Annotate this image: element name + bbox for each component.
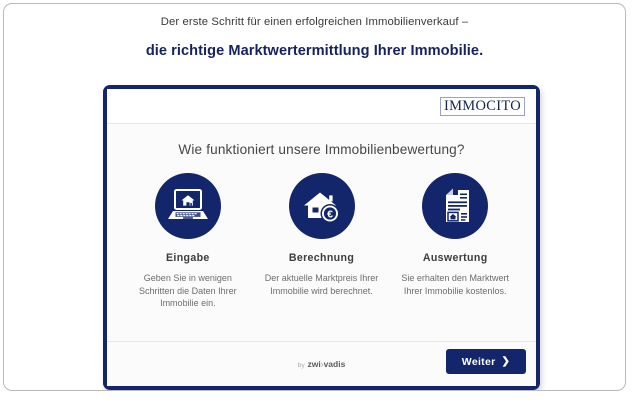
brand-part1: zwi (308, 359, 321, 369)
chevron-right-icon: ❯ (502, 357, 511, 367)
headline-block: Der erste Schritt für einen erfolgreiche… (4, 4, 625, 61)
next-button-label: Weiter (462, 356, 496, 368)
step-auswertung: Auswertung Sie erhalten den Marktwert Ih… (388, 173, 522, 310)
card-footer: by zwi›vadis Weiter ❯ (107, 341, 536, 386)
step-title: Auswertung (388, 252, 522, 264)
report-document-icon (422, 173, 488, 239)
house-euro-icon: € (289, 173, 355, 239)
next-button[interactable]: Weiter ❯ (446, 349, 526, 374)
step-eingabe: Eingabe Geben Sie in wenigen Schritten d… (121, 173, 255, 310)
card-question: Wie funktioniert unsere Immobilienbewert… (107, 124, 536, 157)
zwivadis-brand: zwi›vadis (308, 359, 346, 369)
immocito-logo: IMMOCITO (440, 97, 525, 116)
steps-list: Eingabe Geben Sie in wenigen Schritten d… (107, 173, 536, 310)
step-description: Der aktuelle Marktpreis Ihrer Immobilie … (255, 272, 389, 297)
card-body: Wie funktioniert unsere Immobilienbewert… (107, 124, 536, 341)
step-description: Sie erhalten den Marktwert Ihrer Immobil… (388, 272, 522, 297)
by-prefix: by (298, 362, 305, 369)
headline-subtitle: Der erste Schritt für einen erfolgreiche… (4, 13, 625, 31)
powered-by-label: by zwi›vadis (298, 359, 346, 369)
valuation-card: IMMOCITO Wie funktioniert unsere Immobil… (103, 85, 540, 390)
step-title: Eingabe (121, 252, 255, 264)
step-description: Geben Sie in wenigen Schritten die Daten… (121, 272, 255, 310)
laptop-house-icon (155, 173, 221, 239)
svg-text:€: € (327, 208, 333, 220)
step-berechnung: € Berechnung Der aktuelle Marktpreis Ihr… (255, 173, 389, 310)
page-frame: Der erste Schritt für einen erfolgreiche… (3, 3, 626, 391)
step-title: Berechnung (255, 252, 389, 264)
card-header: IMMOCITO (107, 89, 536, 124)
headline-title: die richtige Marktwertermittlung Ihrer I… (4, 41, 625, 61)
brand-part2: vadis (324, 359, 346, 369)
